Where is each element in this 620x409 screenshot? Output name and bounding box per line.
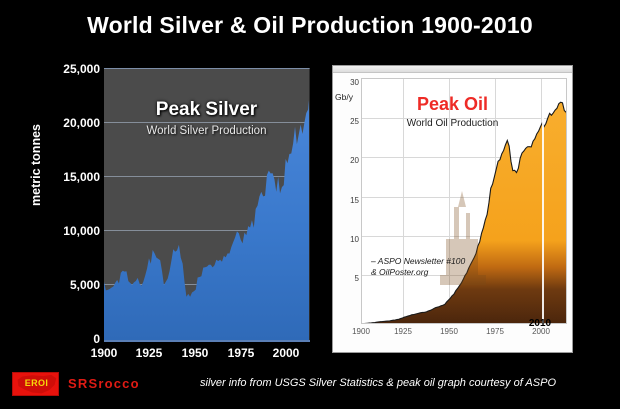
silver-ytick-25000: 25,000 [0,62,100,76]
eroi-logo: EROI [12,372,59,396]
brand-name: SRSrocco [68,376,140,391]
oil-area-series [362,79,567,324]
oil-xtick-1925: 1925 [383,327,423,336]
silver-ytick-10000: 10,000 [0,224,100,238]
page-title: World Silver & Oil Production 1900-2010 [0,12,620,39]
eroi-logo-text: EROI [13,378,59,388]
silver-baseline [104,340,310,342]
oil-chart-panel: Gb/y 30 25 20 15 10 5 Peak Oil World Oil… [332,65,573,353]
oil-panel-titlebar [333,66,572,73]
oil-year-marker-2010: 2010 [519,318,561,329]
oil-xtick-1975: 1975 [475,327,515,336]
footer: EROI SRSrocco silver info from USGS Silv… [0,366,620,409]
oil-2010-marker-line [542,79,544,323]
silver-ytick-5000: 5,000 [0,278,100,292]
silver-xtick-2000: 2000 [256,346,316,360]
silver-ytick-0: 0 [0,332,100,346]
oil-subheading: World Oil Production [333,118,572,129]
oil-ytick-30: 30 [335,78,359,87]
oil-xtick-1900: 1900 [341,327,381,336]
silver-area-series [104,69,310,340]
oil-heading: Peak Oil [333,94,572,115]
silver-ytick-15000: 15,000 [0,170,100,184]
credit-line: silver info from USGS Silver Statistics … [200,377,612,389]
silver-plot-area: Peak Silver World Silver Production [104,68,310,340]
oil-source-note: – ASPO Newsletter #100 & OilPoster.org [371,256,465,279]
oil-ytick-5: 5 [335,274,359,283]
oil-ytick-15: 15 [335,196,359,205]
poster-canvas: World Silver & Oil Production 1900-2010 … [0,0,620,409]
oil-xtick-1950: 1950 [429,327,469,336]
silver-chart-panel: metric tonnes 25,000 20,000 15,000 10,00… [0,58,320,358]
oil-ytick-10: 10 [335,235,359,244]
silver-ytick-20000: 20,000 [0,116,100,130]
oil-ytick-20: 20 [335,156,359,165]
